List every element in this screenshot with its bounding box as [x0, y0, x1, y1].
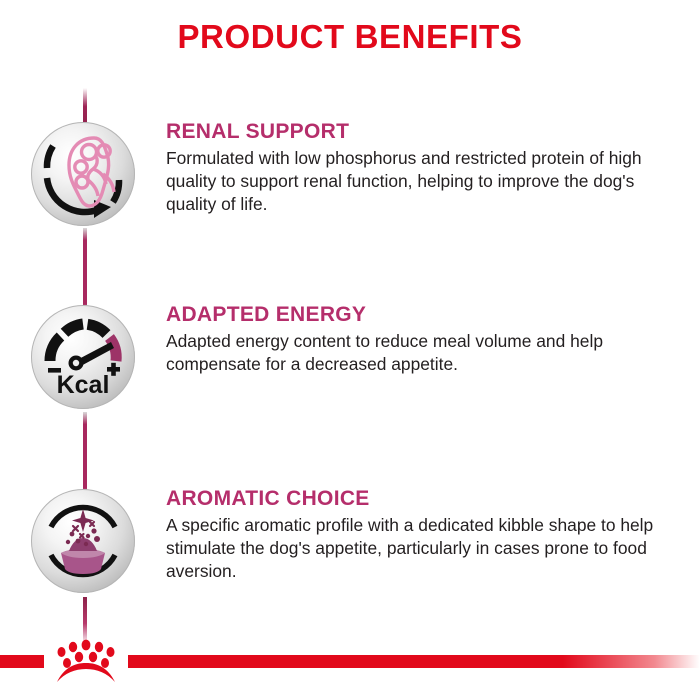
benefit-body: A specific aromatic profile with a dedic…: [166, 514, 686, 582]
benefit-body: Adapted energy content to reduce meal vo…: [166, 330, 686, 376]
royal-canin-crown-logo: [44, 636, 128, 690]
aroma-bowl-icon: [31, 489, 135, 593]
benefit-item-aromatic-choice: AROMATIC CHOICE A specific aromatic prof…: [0, 487, 700, 593]
footer-bar-right: [128, 655, 700, 668]
benefit-text-container: ADAPTED ENERGY Adapted energy content to…: [166, 303, 700, 376]
benefit-item-renal-support: RENAL SUPPORT Formulated with low phosph…: [0, 120, 700, 226]
benefit-icon-container: Kcal: [0, 303, 166, 409]
footer-bar-left: [0, 655, 44, 668]
benefit-title: RENAL SUPPORT: [166, 120, 686, 144]
benefit-text-container: RENAL SUPPORT Formulated with low phosph…: [166, 120, 700, 215]
benefit-item-adapted-energy: Kcal ADAPTED ENERGY Adapted energy conte…: [0, 303, 700, 409]
page-title: PRODUCT BENEFITS: [0, 18, 700, 56]
kcal-gauge-icon: Kcal: [31, 305, 135, 409]
benefit-title: ADAPTED ENERGY: [166, 303, 686, 327]
benefit-icon-container: [0, 120, 166, 226]
benefit-title: AROMATIC CHOICE: [166, 487, 686, 511]
kidney-renal-icon: [31, 122, 135, 226]
footer: [0, 628, 700, 700]
benefit-icon-container: [0, 487, 166, 593]
svg-text:Kcal: Kcal: [57, 371, 110, 399]
benefit-text-container: AROMATIC CHOICE A specific aromatic prof…: [166, 487, 700, 582]
benefit-body: Formulated with low phosphorus and restr…: [166, 147, 686, 215]
